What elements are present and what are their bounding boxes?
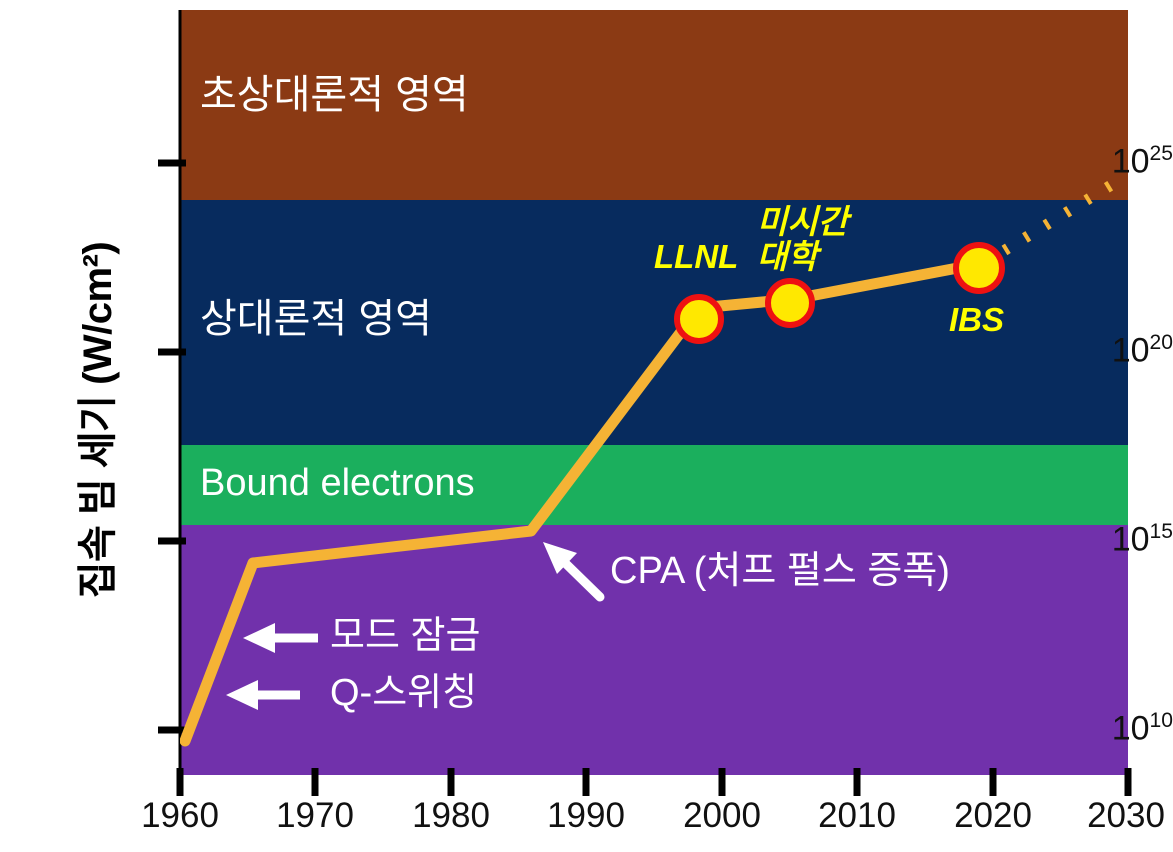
facility-label-michigan-line1: 미시간 — [757, 205, 848, 240]
facility-label-michigan-line2: 대학 — [757, 240, 848, 275]
x-tick-label-2000: 2000 — [652, 798, 792, 833]
y-tick-mantissa: 10 — [1112, 142, 1150, 180]
band-label-bound-electrons: Bound electrons — [200, 464, 475, 502]
facility-label-ibs: IBS — [949, 303, 1004, 338]
x-tick-label-2030: 2030 — [1056, 798, 1173, 833]
y-tick-exponent: 15 — [1150, 520, 1173, 543]
y-tick-label-25: 1025 — [1015, 143, 1173, 178]
marker-ibs[interactable] — [956, 245, 1002, 291]
y-tick-exponent: 20 — [1150, 331, 1173, 354]
regime-bands — [180, 10, 1128, 775]
marker-llnl[interactable] — [677, 297, 721, 341]
x-tick-label-1960: 1960 — [110, 798, 250, 833]
y-tick-exponent: 25 — [1150, 142, 1173, 165]
y-tick-mantissa: 10 — [1112, 709, 1150, 747]
x-tick-label-2010: 2010 — [787, 798, 927, 833]
band-label-relativistic: 상대론적 영역 — [200, 299, 432, 339]
y-tick-label-10: 1010 — [1015, 710, 1173, 745]
x-tick-label-1990: 1990 — [516, 798, 656, 833]
x-tick-label-1980: 1980 — [381, 798, 521, 833]
annotation-q-switching: Q-스위칭 — [330, 674, 477, 712]
y-tick-mantissa: 10 — [1112, 520, 1150, 558]
chart-canvas — [0, 0, 1173, 852]
y-axis-title: 집속 빔 세기 (W/cm²) — [66, 100, 122, 740]
marker-michigan[interactable] — [768, 281, 812, 325]
y-tick-label-15: 1015 — [1015, 521, 1173, 556]
x-tick-label-2020: 2020 — [923, 798, 1063, 833]
band-label-ultrarelativistic: 초상대론적 영역 — [200, 75, 469, 115]
y-tick-label-20: 1020 — [1015, 332, 1173, 367]
facility-label-llnl: LLNL — [654, 240, 738, 275]
y-tick-exponent: 10 — [1150, 709, 1173, 732]
facility-label-michigan: 미시간 대학 — [757, 205, 848, 274]
y-tick-mantissa: 10 — [1112, 331, 1150, 369]
intensity-evolution-chart: 집속 빔 세기 (W/cm²) 1025 1020 1015 1010 1960… — [0, 0, 1173, 852]
x-tick-label-1970: 1970 — [245, 798, 385, 833]
annotation-mode-locking: 모드 잠금 — [330, 617, 480, 655]
annotation-cpa: CPA (처프 펄스 증폭) — [610, 552, 950, 590]
